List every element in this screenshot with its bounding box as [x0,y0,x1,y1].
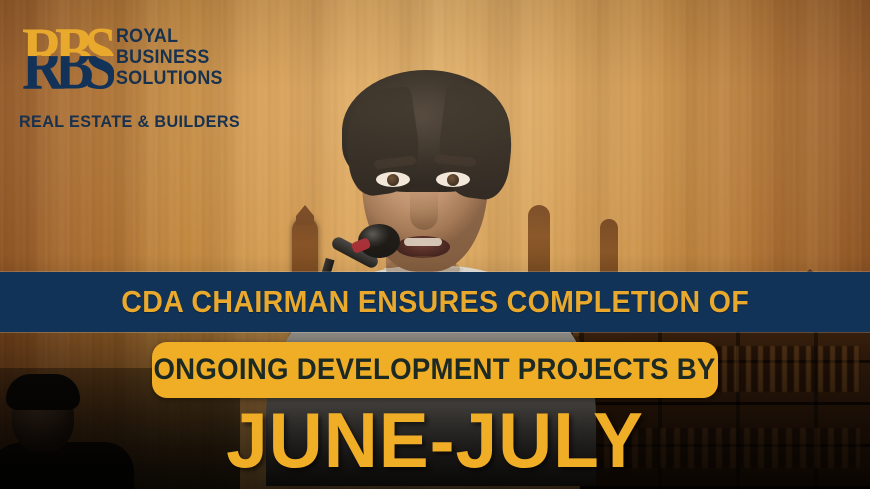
company-logo[interactable]: RBS RBS ROYAL BUSINESS SOLUTIONS REAL ES… [16,22,226,134]
company-name-line-3: SOLUTIONS [116,68,229,89]
headline-line-2: ONGOING DEVELOPMENT PROJECTS BY [154,353,716,387]
headline-line-1: CDA CHAIRMAN ENSURES COMPLETION OF [121,284,749,320]
headline-bar-primary: CDA CHAIRMAN ENSURES COMPLETION OF [0,272,870,332]
headline-line-3: JUNE-JULY [17,396,852,484]
rbs-monogram: RBS RBS [22,22,114,106]
headline-bar-secondary: ONGOING DEVELOPMENT PROJECTS BY [152,342,718,398]
company-name-line-2: BUSINESS [116,47,229,68]
company-tagline: REAL ESTATE & BUILDERS [19,112,240,132]
news-banner-card: RBS RBS ROYAL BUSINESS SOLUTIONS REAL ES… [0,0,870,489]
company-name: ROYAL BUSINESS SOLUTIONS [116,26,229,89]
company-name-line-1: ROYAL [116,26,229,47]
